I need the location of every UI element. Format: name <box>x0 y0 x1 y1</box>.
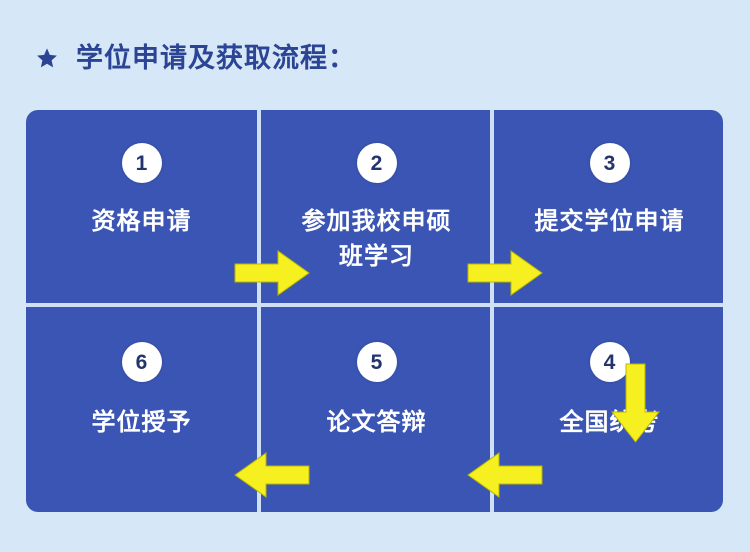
step-number-badge: 2 <box>357 143 397 183</box>
arrow-right-icon <box>233 248 311 298</box>
star-icon <box>36 47 58 69</box>
step-label: 学位授予 <box>92 406 192 441</box>
arrow-left-icon <box>233 450 311 500</box>
flow-step-6[interactable]: 6 学位授予 <box>26 307 257 512</box>
step-number-badge: 6 <box>122 342 162 382</box>
flowchart-page: 学位申请及获取流程： 1 资格申请 2 参加我校申硕 班学习 3 提交学位申请 … <box>0 0 750 552</box>
step-number-badge: 3 <box>590 143 630 183</box>
step-label: 资格申请 <box>92 205 192 240</box>
arrow-down-icon <box>608 362 663 444</box>
step-number-badge: 5 <box>357 342 397 382</box>
flow-panel: 1 资格申请 2 参加我校申硕 班学习 3 提交学位申请 4 全国统考 5 论文… <box>26 110 723 512</box>
page-title: 学位申请及获取流程： <box>36 38 356 78</box>
arrow-left-icon <box>466 450 544 500</box>
step-label: 提交学位申请 <box>535 205 685 240</box>
step-number-badge: 1 <box>122 143 162 183</box>
page-title-text: 学位申请及获取流程： <box>76 45 356 72</box>
step-label: 参加我校申硕 班学习 <box>302 205 452 275</box>
arrow-right-icon <box>466 248 544 298</box>
flow-step-1[interactable]: 1 资格申请 <box>26 110 257 303</box>
step-label: 论文答辩 <box>327 406 427 441</box>
